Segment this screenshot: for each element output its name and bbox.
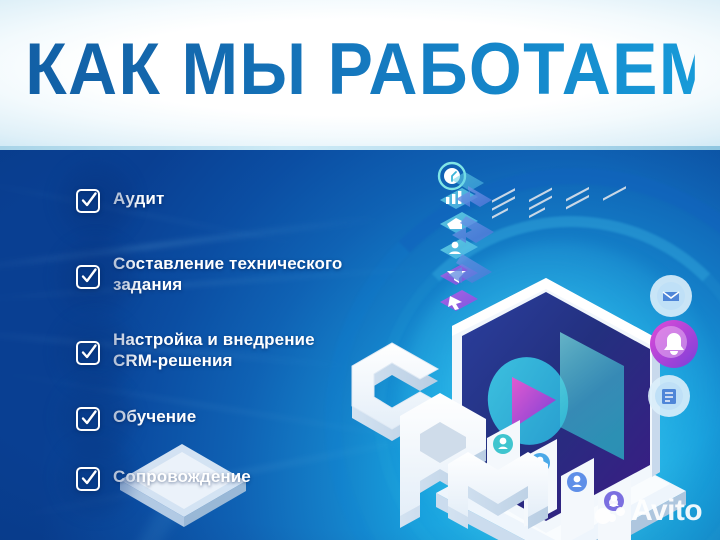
checkbox-checked-icon[interactable]	[76, 265, 100, 289]
checklist-item-label: Составление технического задания	[113, 253, 342, 295]
page-title: КАК МЫ РАБОТАЕМ	[25, 29, 695, 111]
poster-root: КАК МЫ РАБОТАЕМ	[0, 0, 720, 540]
checkbox-checked-icon[interactable]	[76, 467, 100, 491]
hero-stage: Аудит Составление технического задания	[0, 150, 720, 540]
checklist-item-label: Обучение	[113, 406, 196, 427]
checklist-item-label: Аудит	[113, 188, 164, 209]
checklist-item-tech-spec[interactable]: Составление технического задания	[76, 253, 342, 295]
user-icon	[440, 238, 478, 259]
process-checklist: Аудит Составление технического задания	[0, 150, 430, 540]
checklist-item-support[interactable]: Сопровождение	[76, 466, 251, 491]
checklist-item-label: Сопровождение	[113, 466, 251, 487]
checkbox-checked-icon[interactable]	[76, 189, 100, 213]
checkbox-checked-icon[interactable]	[76, 341, 100, 365]
checklist-item-crm-setup[interactable]: Настройка и внедрение CRM-решения	[76, 329, 315, 371]
checklist-item-training[interactable]: Обучение	[76, 406, 196, 431]
bar-chart-icon	[440, 188, 478, 209]
avito-logo: Avito	[595, 496, 702, 526]
header-band: КАК МЫ РАБОТАЕМ	[0, 0, 720, 150]
avito-wordmark: Avito	[631, 496, 702, 526]
checkbox-checked-icon[interactable]	[76, 407, 100, 431]
checklist-item-label: Настройка и внедрение CRM-решения	[113, 329, 315, 371]
checklist-item-audit[interactable]: Аудит	[76, 188, 164, 213]
avito-dots-icon	[595, 498, 625, 524]
megaphone-icon	[440, 212, 478, 233]
clock-icon	[439, 163, 484, 191]
